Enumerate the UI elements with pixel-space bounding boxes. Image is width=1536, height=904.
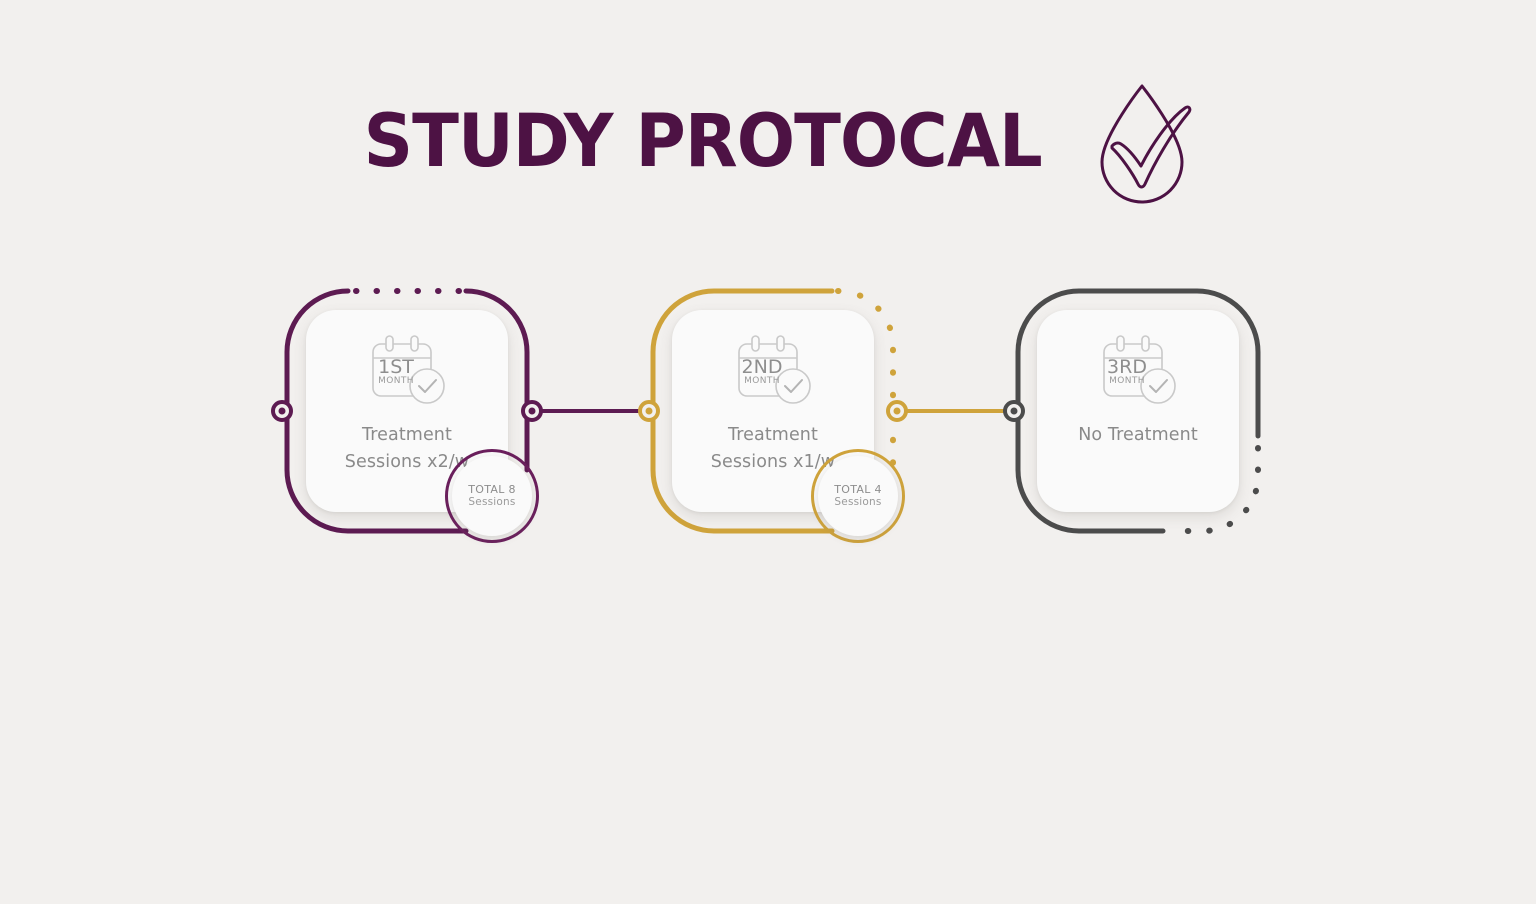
calendar-period: MONTH <box>359 377 433 386</box>
step-line-1: Treatment <box>711 422 835 449</box>
water-drop-checkmark-icon <box>1090 78 1194 206</box>
calendar-check-icon: 3RD MONTH <box>1090 332 1186 408</box>
calendar-check-icon: 2ND MONTH <box>725 332 821 408</box>
connector-node-left-month-3[interactable] <box>1003 400 1025 422</box>
step-line-1: Treatment <box>345 422 469 449</box>
step-description-month-3: No Treatment <box>1078 422 1198 449</box>
badge-sessions-label: Sessions <box>834 496 881 509</box>
page-title: STUDY PROTOCAL <box>364 105 1042 178</box>
connector-node-right-month-2[interactable] <box>886 400 908 422</box>
protocol-step-month-1[interactable]: 1ST MONTH Treatment Sessions x2/w TOTAL … <box>282 286 532 536</box>
step-description-month-1: Treatment Sessions x2/w <box>345 422 469 476</box>
badge-inner: TOTAL 8 Sessions <box>452 456 532 536</box>
connector-node-left-month-2[interactable] <box>638 400 660 422</box>
connector-node-left-month-1[interactable] <box>271 400 293 422</box>
calendar-period: MONTH <box>725 377 799 386</box>
step-card-month-3: 3RD MONTH No Treatment <box>1037 310 1239 512</box>
calendar-period: MONTH <box>1090 377 1164 386</box>
connector-line-1-2 <box>532 409 649 413</box>
protocol-step-month-2[interactable]: 2ND MONTH Treatment Sessions x1/w TOTAL … <box>648 286 898 536</box>
connector-line-2-3 <box>897 409 1014 413</box>
page-header: STUDY PROTOCAL <box>0 76 1536 206</box>
step-description-month-2: Treatment Sessions x1/w <box>711 422 835 476</box>
protocol-flow: 1ST MONTH Treatment Sessions x2/w TOTAL … <box>0 286 1536 546</box>
calendar-ordinal: 2ND <box>725 358 799 377</box>
calendar-check-icon: 1ST MONTH <box>359 332 455 408</box>
step-line-1: No Treatment <box>1078 422 1198 449</box>
connector-node-right-month-1[interactable] <box>521 400 543 422</box>
total-sessions-badge-month-1[interactable]: TOTAL 8 Sessions <box>445 449 539 543</box>
calendar-ordinal: 3RD <box>1090 358 1164 377</box>
calendar-ordinal: 1ST <box>359 358 433 377</box>
badge-inner: TOTAL 4 Sessions <box>818 456 898 536</box>
protocol-step-month-3[interactable]: 3RD MONTH No Treatment <box>1013 286 1263 536</box>
badge-total-label: TOTAL 8 <box>468 483 516 497</box>
total-sessions-badge-month-2[interactable]: TOTAL 4 Sessions <box>811 449 905 543</box>
badge-total-label: TOTAL 4 <box>834 483 882 497</box>
study-protocol-diagram: STUDY PROTOCAL <box>0 0 1536 904</box>
badge-sessions-label: Sessions <box>468 496 515 509</box>
